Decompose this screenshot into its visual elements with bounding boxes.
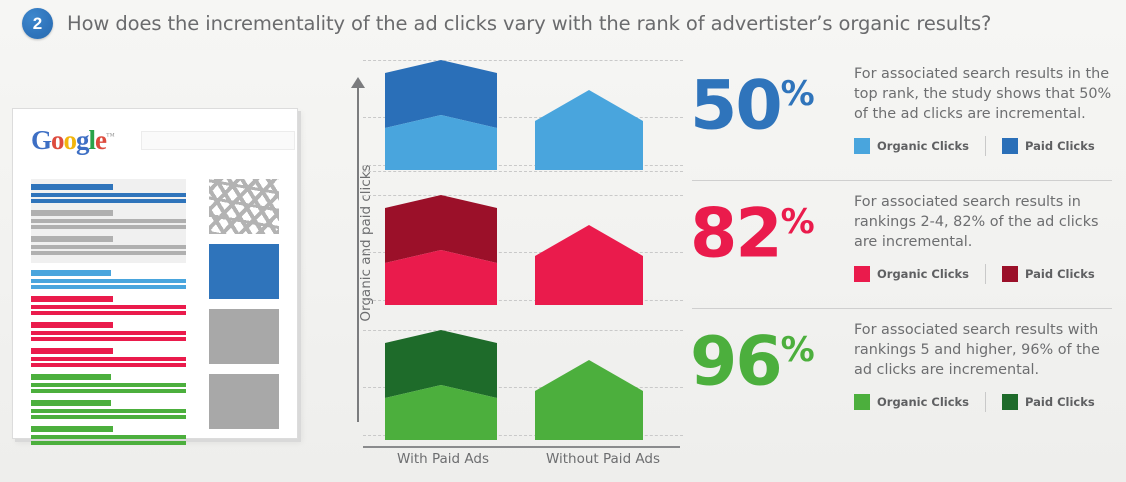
sidebar-ad-block-secondary[interactable] bbox=[209, 309, 279, 364]
legend-label-organic: Organic Clicks bbox=[877, 395, 969, 409]
result-text-bar bbox=[31, 305, 186, 309]
legend-item-paid: Paid Clicks bbox=[1002, 394, 1095, 410]
sidebar-ad-block-primary[interactable] bbox=[209, 244, 279, 299]
stats-panel: 50% For associated search results in the… bbox=[690, 52, 1114, 436]
result-text-bar bbox=[31, 435, 186, 439]
legend-label-paid: Paid Clicks bbox=[1025, 267, 1095, 281]
result-title-bar bbox=[31, 348, 113, 354]
result-text-bar bbox=[31, 389, 186, 393]
legend-divider bbox=[985, 392, 986, 412]
bar-shapes bbox=[363, 55, 683, 447]
stat-value-50: 50% bbox=[690, 60, 814, 141]
step-badge: 2 bbox=[22, 8, 53, 39]
google-logo: Google™ bbox=[31, 123, 114, 154]
bar-group-rankings-5-plus bbox=[385, 330, 643, 440]
result-title-bar bbox=[31, 400, 111, 406]
result-text-bar bbox=[31, 415, 186, 419]
result-text-bar bbox=[31, 193, 186, 197]
stat-value-82: 82% bbox=[690, 188, 814, 269]
bar-without-paid-ads-organic bbox=[535, 225, 643, 305]
infographic-canvas: 2 How does the incrementality of the ad … bbox=[0, 0, 1126, 482]
percent-sign: % bbox=[781, 330, 814, 370]
header: 2 How does the incrementality of the ad … bbox=[22, 8, 991, 39]
result-title-bar bbox=[31, 374, 111, 380]
result-text-bar bbox=[31, 285, 186, 289]
stat-divider bbox=[692, 180, 1112, 181]
result-text-bar bbox=[31, 441, 186, 445]
result-text-bar bbox=[31, 409, 186, 413]
result-title-bar bbox=[31, 426, 113, 432]
logo-letter-g1: G bbox=[31, 127, 51, 154]
result-text-bar bbox=[31, 199, 186, 203]
x-axis-label-without-paid-ads: Without Paid Ads bbox=[523, 451, 683, 467]
legend-swatch-organic-icon bbox=[854, 138, 870, 154]
serp-sidebar-column bbox=[209, 179, 279, 439]
legend-label-paid: Paid Clicks bbox=[1025, 139, 1095, 153]
serp-result-organic-5[interactable] bbox=[31, 374, 186, 393]
result-text-bar bbox=[31, 279, 186, 283]
logo-letter-o1: o bbox=[51, 127, 64, 154]
result-title-bar bbox=[31, 270, 111, 276]
bar-without-paid-ads-organic bbox=[535, 360, 643, 440]
serp-result-organic-7[interactable] bbox=[31, 426, 186, 445]
percent-sign: % bbox=[781, 202, 814, 242]
trademark-mark: ™ bbox=[106, 123, 114, 150]
legend-item-organic: Organic Clicks bbox=[854, 138, 969, 154]
stat-divider bbox=[692, 308, 1112, 309]
legend-82: Organic Clicks Paid Clicks bbox=[854, 264, 1095, 284]
serp-result-organic-1[interactable] bbox=[31, 270, 186, 289]
serp-results-column bbox=[31, 179, 186, 452]
result-title-bar bbox=[31, 296, 113, 302]
google-serp-mockup: Google™ bbox=[12, 108, 298, 439]
serp-result-organic-3[interactable] bbox=[31, 322, 186, 341]
legend-swatch-paid-icon bbox=[1002, 266, 1018, 282]
map-thumbnail-icon bbox=[209, 179, 279, 234]
serp-result-ad-1[interactable] bbox=[31, 184, 186, 203]
serp-result-organic-6[interactable] bbox=[31, 400, 186, 419]
legend-swatch-organic-icon bbox=[854, 394, 870, 410]
serp-result-organic-4[interactable] bbox=[31, 348, 186, 367]
result-title-bar bbox=[31, 322, 113, 328]
chart: Organic and paid clicks bbox=[340, 55, 685, 480]
legend-item-paid: Paid Clicks bbox=[1002, 138, 1095, 154]
result-text-bar bbox=[31, 357, 186, 361]
result-text-bar bbox=[31, 383, 186, 387]
result-text-bar bbox=[31, 311, 186, 315]
legend-50: Organic Clicks Paid Clicks bbox=[854, 136, 1095, 156]
plot-area bbox=[363, 55, 683, 447]
result-text-bar bbox=[31, 337, 186, 341]
percent-sign: % bbox=[781, 74, 814, 114]
page-title: How does the incrementality of the ad cl… bbox=[67, 12, 991, 35]
stat-block-82: 82% For associated search results in ran… bbox=[690, 180, 1114, 308]
result-text-bar bbox=[31, 331, 186, 335]
bar-group-rankings-2-4 bbox=[385, 195, 643, 305]
logo-letter-e: e bbox=[95, 127, 106, 154]
legend-item-paid: Paid Clicks bbox=[1002, 266, 1095, 282]
legend-label-organic: Organic Clicks bbox=[877, 267, 969, 281]
result-title-bar bbox=[31, 210, 113, 216]
stat-description-96: For associated search results with ranki… bbox=[854, 320, 1116, 380]
stat-value-96: 96% bbox=[690, 316, 814, 397]
stat-description-82: For associated search results in ranking… bbox=[854, 192, 1116, 252]
legend-swatch-organic-icon bbox=[854, 266, 870, 282]
stat-block-96: 96% For associated search results with r… bbox=[690, 308, 1114, 436]
bar-group-top-rank bbox=[385, 60, 643, 170]
sidebar-ad-block-tertiary[interactable] bbox=[209, 374, 279, 429]
serp-ad-block bbox=[31, 179, 186, 263]
legend-label-organic: Organic Clicks bbox=[877, 139, 969, 153]
logo-letter-o2: o bbox=[64, 127, 77, 154]
stat-block-50: 50% For associated search results in the… bbox=[690, 52, 1114, 180]
result-text-bar bbox=[31, 219, 186, 223]
legend-item-organic: Organic Clicks bbox=[854, 394, 969, 410]
legend-96: Organic Clicks Paid Clicks bbox=[854, 392, 1095, 412]
serp-result-ad-3[interactable] bbox=[31, 236, 186, 255]
x-axis-label-with-paid-ads: With Paid Ads bbox=[363, 451, 523, 467]
legend-swatch-paid-icon bbox=[1002, 394, 1018, 410]
logo-letter-g2: g bbox=[76, 127, 89, 154]
legend-item-organic: Organic Clicks bbox=[854, 266, 969, 282]
stat-description-50: For associated search results in the top… bbox=[854, 64, 1116, 124]
result-text-bar bbox=[31, 225, 186, 229]
legend-divider bbox=[985, 264, 986, 284]
legend-label-paid: Paid Clicks bbox=[1025, 395, 1095, 409]
stat-number: 50 bbox=[690, 67, 781, 146]
result-text-bar bbox=[31, 363, 186, 367]
result-title-bar bbox=[31, 236, 113, 242]
stat-number: 82 bbox=[690, 195, 781, 274]
search-input[interactable] bbox=[141, 131, 295, 150]
serp-result-organic-2[interactable] bbox=[31, 296, 186, 315]
stat-number: 96 bbox=[690, 323, 781, 402]
bar-without-paid-ads-organic bbox=[535, 90, 643, 170]
serp-result-ad-2[interactable] bbox=[31, 210, 186, 229]
legend-divider bbox=[985, 136, 986, 156]
result-title-bar bbox=[31, 184, 113, 190]
x-axis-line bbox=[363, 446, 680, 448]
legend-swatch-paid-icon bbox=[1002, 138, 1018, 154]
result-text-bar bbox=[31, 245, 186, 249]
result-text-bar bbox=[31, 251, 186, 255]
x-axis-labels: With Paid Ads Without Paid Ads bbox=[363, 451, 683, 467]
